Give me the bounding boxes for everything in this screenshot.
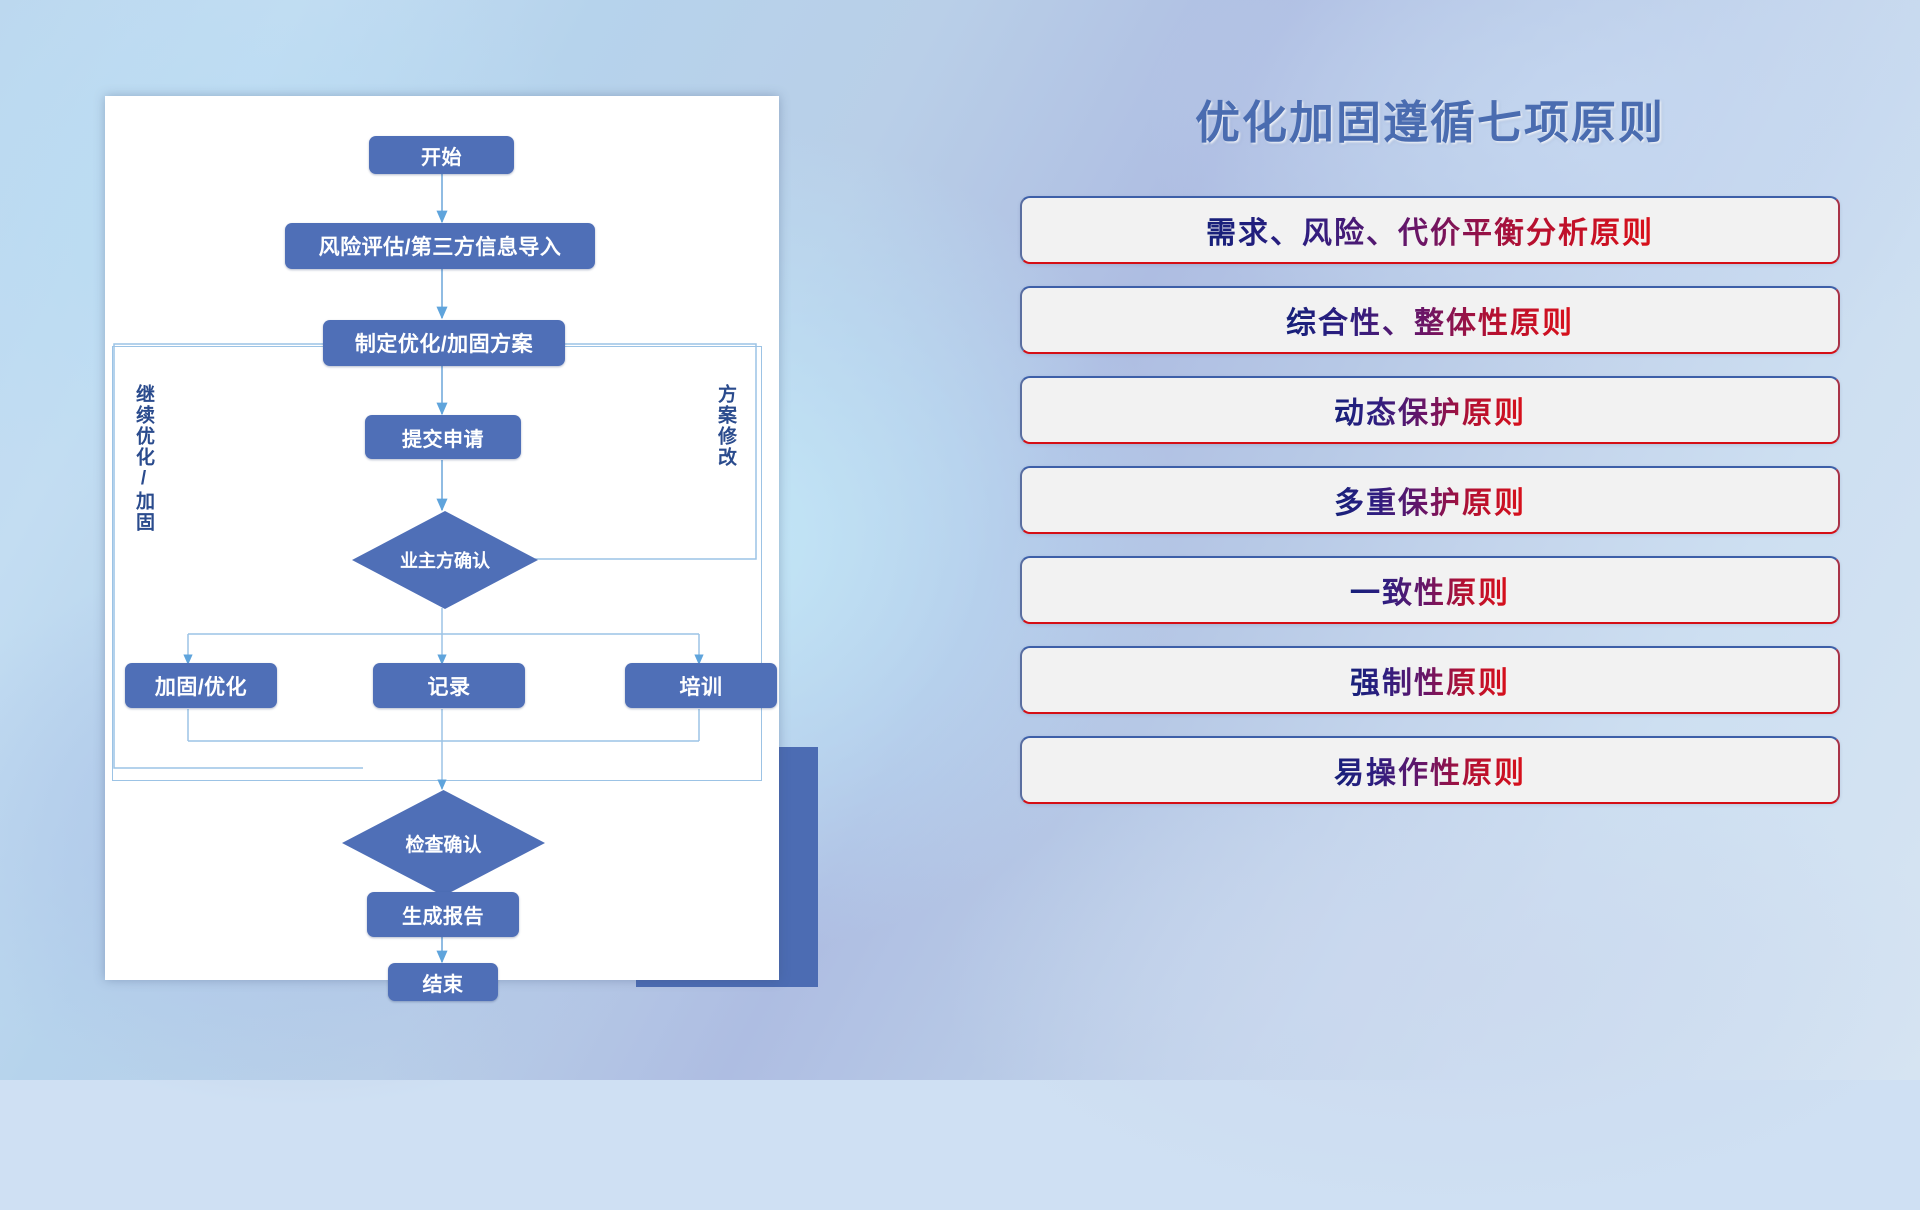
panel-title: 优化加固遵循七项原则 bbox=[1020, 86, 1840, 151]
flow-node-record[interactable]: 记录 bbox=[373, 663, 525, 708]
flow-node-label: 生成报告 bbox=[402, 900, 484, 929]
flow-node-label: 制定优化/加固方案 bbox=[355, 328, 533, 358]
flow-node-label: 培训 bbox=[680, 671, 723, 701]
flow-node-risk-assessment[interactable]: 风险评估/第三方信息导入 bbox=[285, 223, 595, 269]
flow-node-generate-report[interactable]: 生成报告 bbox=[367, 892, 519, 937]
flow-node-label: 检查确认 bbox=[405, 830, 481, 857]
flow-node-label: 风险评估/第三方信息导入 bbox=[319, 231, 562, 261]
principle-label: 一致性原则 bbox=[1350, 568, 1510, 612]
flow-node-label: 记录 bbox=[428, 671, 471, 701]
principle-label: 需求、风险、代价平衡分析原则 bbox=[1206, 208, 1654, 252]
flow-node-end[interactable]: 结束 bbox=[388, 963, 498, 1001]
principle-card[interactable]: 强制性原则 bbox=[1020, 646, 1840, 714]
principles-list: 需求、风险、代价平衡分析原则 综合性、整体性原则 动态保护原则 多重保护原则 一… bbox=[1020, 196, 1840, 826]
principles-panel: 优化加固遵循七项原则 需求、风险、代价平衡分析原则 综合性、整体性原则 动态保护… bbox=[1020, 86, 1840, 1016]
flow-node-reinforce[interactable]: 加固/优化 bbox=[125, 663, 277, 708]
principle-label: 多重保护原则 bbox=[1334, 478, 1526, 522]
flow-node-label: 开始 bbox=[421, 141, 462, 170]
principle-label: 综合性、整体性原则 bbox=[1286, 298, 1574, 342]
flow-node-start[interactable]: 开始 bbox=[369, 136, 514, 174]
principle-label: 动态保护原则 bbox=[1334, 388, 1526, 432]
flow-node-label: 提交申请 bbox=[402, 423, 484, 452]
principle-card[interactable]: 一致性原则 bbox=[1020, 556, 1840, 624]
flow-node-make-plan[interactable]: 制定优化/加固方案 bbox=[323, 320, 565, 366]
flow-node-submit-application[interactable]: 提交申请 bbox=[365, 415, 521, 459]
flowchart-card: 开始 风险评估/第三方信息导入 制定优化/加固方案 提交申请 业主方确认 加固/… bbox=[105, 96, 779, 980]
principle-card[interactable]: 多重保护原则 bbox=[1020, 466, 1840, 534]
flow-node-label: 结束 bbox=[423, 968, 464, 997]
principle-label: 易操作性原则 bbox=[1334, 748, 1526, 792]
flow-node-training[interactable]: 培训 bbox=[625, 663, 777, 708]
flow-node-label: 业主方确认 bbox=[400, 547, 490, 573]
principle-card[interactable]: 易操作性原则 bbox=[1020, 736, 1840, 804]
principle-card[interactable]: 综合性、整体性原则 bbox=[1020, 286, 1840, 354]
principle-card[interactable]: 动态保护原则 bbox=[1020, 376, 1840, 444]
principle-card[interactable]: 需求、风险、代价平衡分析原则 bbox=[1020, 196, 1840, 264]
flow-node-label: 加固/优化 bbox=[155, 671, 247, 701]
flow-edge-label-plan-revision: 方案修改 bbox=[712, 384, 739, 468]
principle-label: 强制性原则 bbox=[1350, 658, 1510, 702]
flow-edge-label-continue-optimize: 继续优化/加固 bbox=[130, 384, 157, 533]
